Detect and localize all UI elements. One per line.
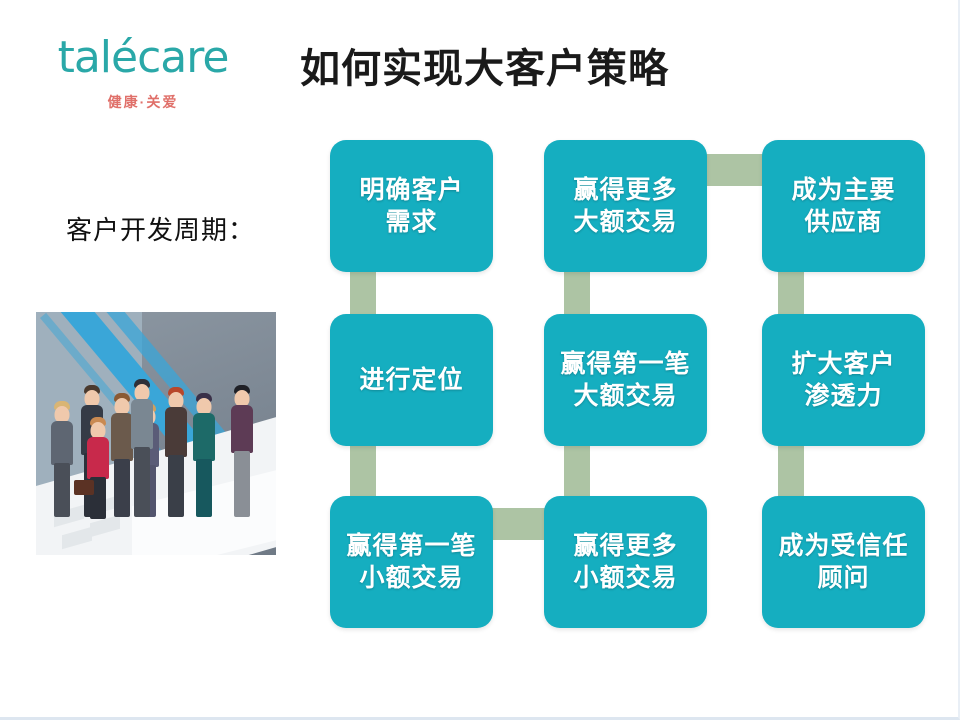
customer-cycle-label: 客户开发周期： [66,210,255,247]
flow-node-r1c2[interactable]: 赢得更多 大额交易 [544,140,707,272]
flow-node-label: 大额交易 [573,380,677,412]
brand-tagline: 健康·关爱 [28,92,258,112]
flow-node-r2c2[interactable]: 赢得第一笔 大额交易 [544,314,707,446]
brand-logo: talécare 健康·关爱 [28,36,258,112]
flow-node-label: 大额交易 [573,206,677,238]
flow-node-label: 小额交易 [359,562,463,594]
flow-node-r3c1[interactable]: 赢得第一笔 小额交易 [330,496,493,628]
flow-node-label: 明确客户 [359,174,463,206]
page-title: 如何实现大客户策略 [300,36,669,94]
flow-node-label: 供应商 [804,206,882,238]
slide-canvas: talécare 健康·关爱 如何实现大客户策略 客户开发周期： [0,0,960,720]
flow-node-r1c3[interactable]: 成为主要 供应商 [762,140,925,272]
flow-node-label: 成为受信任 [778,530,908,562]
flow-node-label: 渗透力 [804,380,882,412]
flow-node-label: 顾问 [817,562,869,594]
connector-col2-row2-row3 [564,444,590,500]
connector-col1-row2-row3 [350,444,376,500]
flow-node-label: 赢得更多 [573,174,677,206]
flow-node-label: 赢得第一笔 [560,348,690,380]
flow-node-r2c3[interactable]: 扩大客户 渗透力 [762,314,925,446]
flow-node-r3c3[interactable]: 成为受信任 顾问 [762,496,925,628]
flow-node-label: 赢得更多 [573,530,677,562]
strategy-flow-diagram: 明确客户 需求 赢得更多 大额交易 成为主要 供应商 进行定位 赢得第一笔 大额… [330,140,926,632]
business-people-walking-illustration [36,312,276,555]
brand-wordmark: talécare [28,36,258,80]
flow-node-label: 需求 [385,206,437,238]
flow-node-r1c1[interactable]: 明确客户 需求 [330,140,493,272]
flow-node-label: 进行定位 [359,364,463,396]
flow-node-label: 成为主要 [791,174,895,206]
flow-node-r3c2[interactable]: 赢得更多 小额交易 [544,496,707,628]
flow-node-label: 小额交易 [573,562,677,594]
flow-node-label: 扩大客户 [791,348,895,380]
illustration-briefcase [74,480,94,495]
flow-node-label: 赢得第一笔 [346,530,476,562]
connector-col3-row2-row3 [778,444,804,500]
flow-node-r2c1[interactable]: 进行定位 [330,314,493,446]
